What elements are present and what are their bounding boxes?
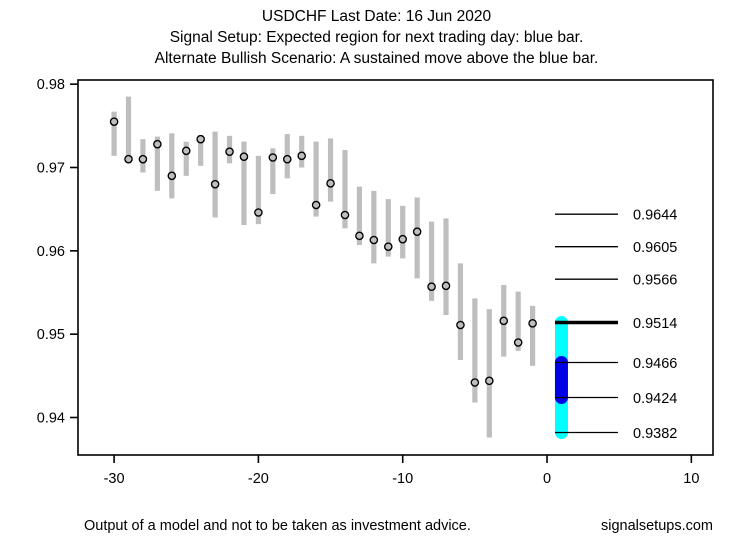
price-bar [399, 206, 406, 259]
price-bar [212, 132, 219, 218]
price-bar [298, 136, 305, 168]
price-bar [356, 187, 363, 245]
price-bar [154, 137, 161, 191]
brand-text: signalsetups.com [601, 518, 713, 534]
price-bars-group [110, 97, 536, 438]
chart-page: USDCHF Last Date: 16 Jun 2020 Signal Set… [0, 0, 753, 552]
level-lines-group: 0.96440.96050.95660.95140.94660.94240.93… [555, 208, 677, 442]
price-bar [457, 263, 464, 360]
disclaimer-text: Output of a model and not to be taken as… [84, 518, 471, 534]
x-axis-tick-label: 0 [543, 471, 551, 487]
x-axis-tick-label: -30 [104, 471, 125, 487]
level-value-label: 0.9514 [633, 316, 677, 332]
y-axis-tick-label: 0.94 [37, 411, 65, 427]
price-bar [486, 309, 493, 437]
price-bar [414, 198, 421, 279]
x-axis-tick-label: -20 [248, 471, 269, 487]
y-axis-tick-label: 0.97 [37, 161, 65, 177]
price-bar [197, 135, 204, 166]
y-axis-tick-label: 0.95 [37, 327, 65, 343]
x-axis-tick-label: -10 [392, 471, 413, 487]
level-value-label: 0.9566 [633, 273, 677, 289]
level-value-label: 0.9382 [633, 426, 677, 442]
price-bar [428, 222, 435, 301]
y-axis-tick-label: 0.96 [37, 244, 65, 260]
price-bar [327, 138, 334, 201]
price-bar [515, 292, 522, 351]
level-value-label: 0.9466 [633, 356, 677, 372]
price-bar [255, 156, 262, 224]
price-bar [313, 142, 320, 217]
price-bar [240, 142, 247, 225]
level-value-label: 0.9605 [633, 240, 677, 256]
price-chart: 0.940.950.960.970.98-30-20-100100.96440.… [0, 0, 753, 552]
price-bar [385, 199, 392, 256]
price-bar [110, 112, 117, 156]
price-bar [471, 298, 478, 402]
price-bar [269, 148, 276, 194]
price-bar [139, 139, 146, 172]
price-bar [500, 285, 507, 357]
price-bar [125, 97, 132, 163]
level-value-label: 0.9424 [633, 391, 677, 407]
price-bar [183, 142, 190, 176]
y-axis-tick-label: 0.98 [37, 77, 65, 93]
price-bar [284, 134, 291, 178]
price-bar [370, 191, 377, 264]
price-bar [226, 136, 233, 164]
price-bar [168, 133, 175, 198]
price-bar [529, 306, 536, 366]
price-bar [442, 218, 449, 315]
price-bar [341, 150, 348, 228]
chart-footer: Output of a model and not to be taken as… [0, 518, 753, 538]
x-axis-tick-label: 10 [683, 471, 699, 487]
level-value-label: 0.9644 [633, 208, 677, 224]
